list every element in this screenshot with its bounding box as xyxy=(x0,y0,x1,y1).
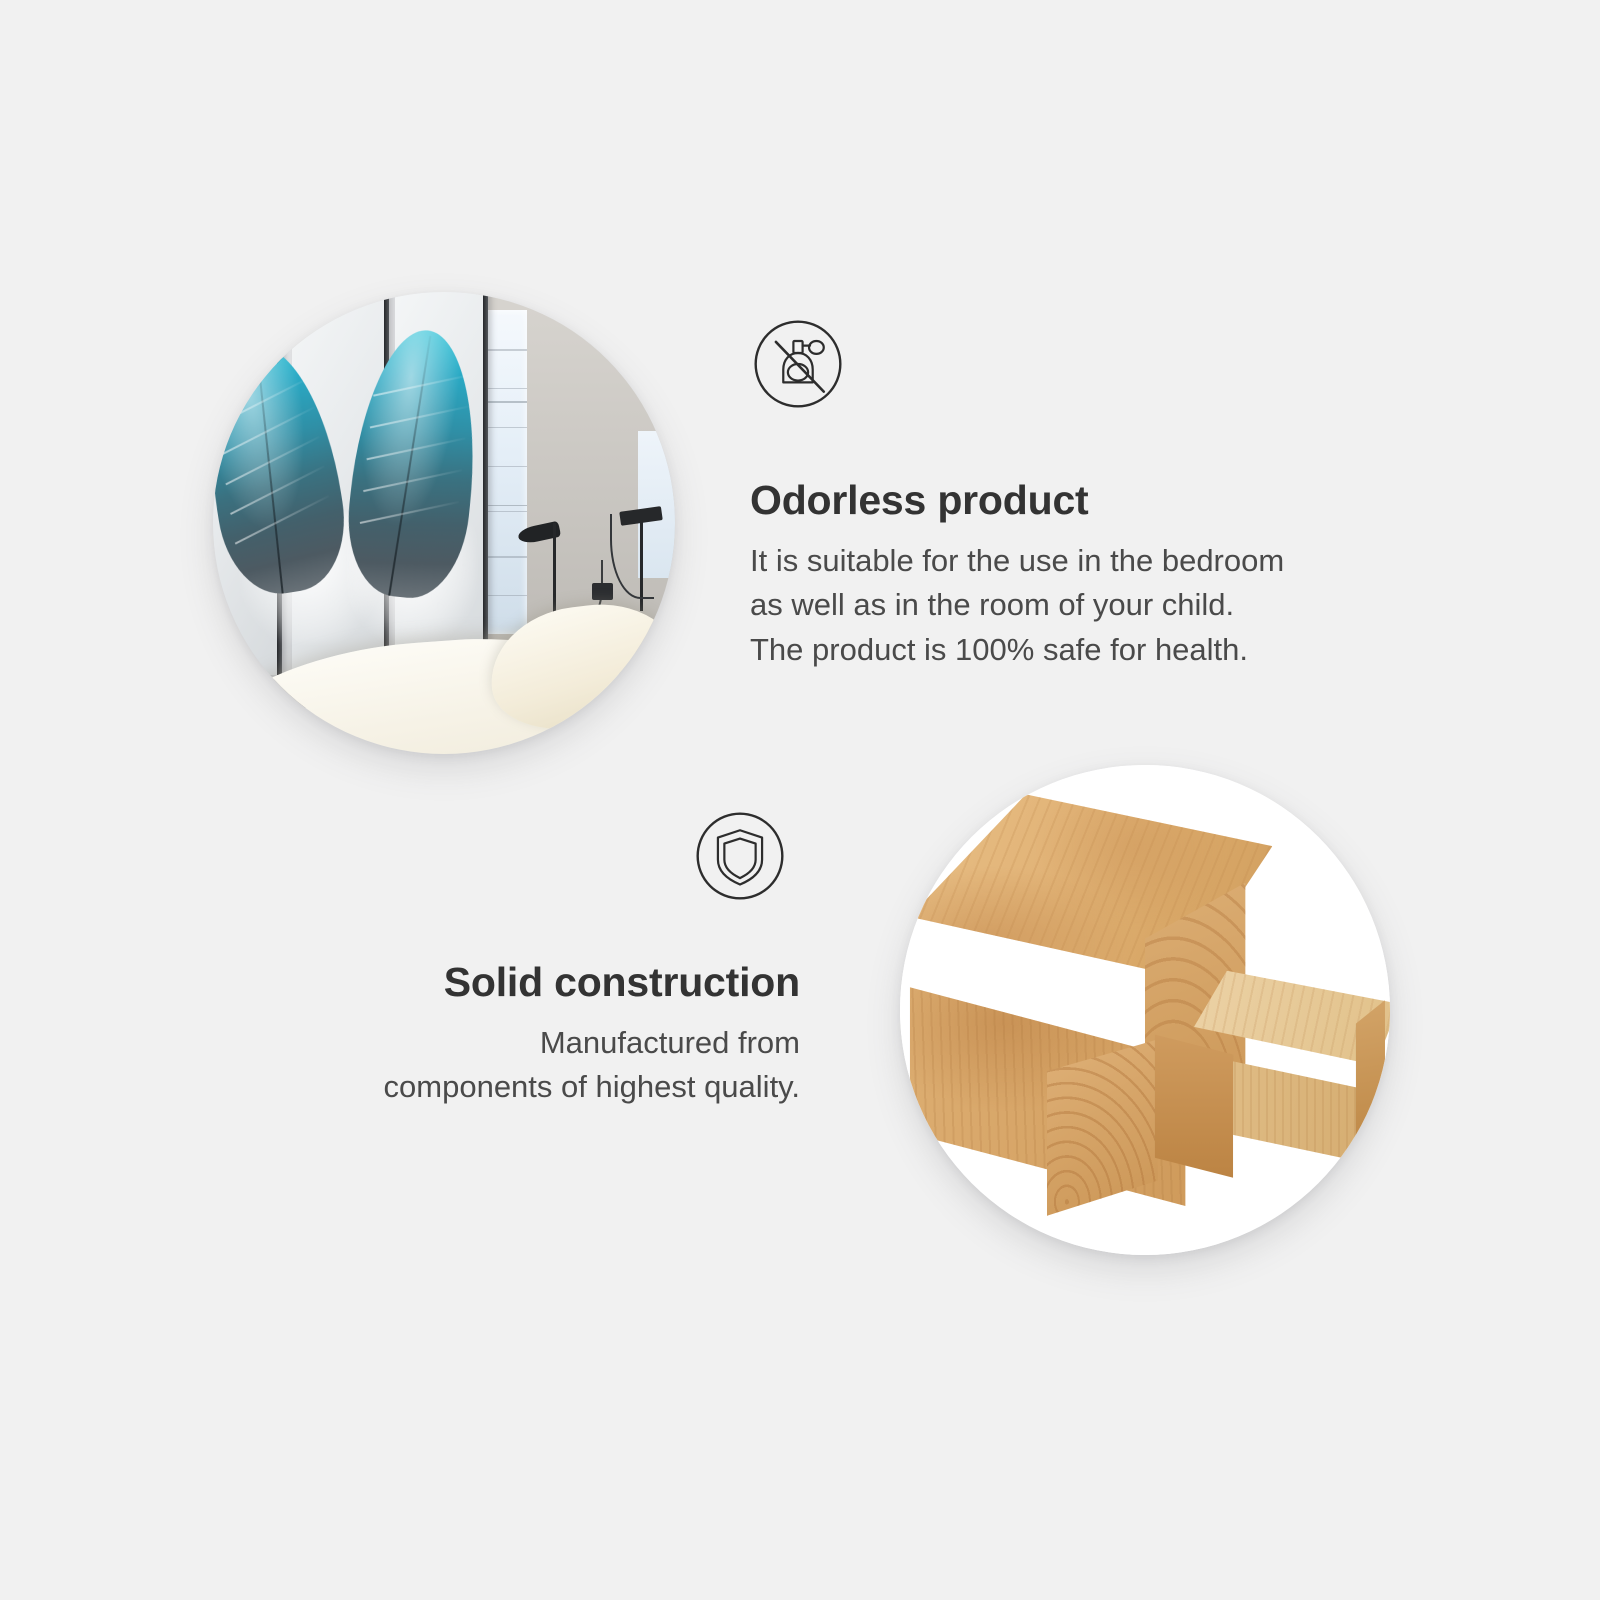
window-mullions xyxy=(483,310,527,633)
wooden-beams-photo xyxy=(900,765,1390,1255)
feather-shaft xyxy=(389,336,432,596)
solid-construction-description: Manufactured from components of highest … xyxy=(220,1021,800,1110)
solid-construction-feature-text: Solid construction Manufactured from com… xyxy=(220,960,800,1110)
loft-window xyxy=(483,310,527,633)
odorless-description-line: It is suitable for the use in the bedroo… xyxy=(750,539,1430,583)
bedroom-scene xyxy=(213,292,675,754)
product-feature-page: Odorless product It is suitable for the … xyxy=(0,0,1600,1600)
odorless-description-line: as well as in the room of your child. xyxy=(750,583,1430,627)
solid-construction-description-line: components of highest quality. xyxy=(220,1065,800,1109)
solid-construction-title: Solid construction xyxy=(220,960,800,1005)
odorless-description-line: The product is 100% safe for health. xyxy=(750,628,1430,672)
canvas-edge xyxy=(483,292,488,671)
odorless-title: Odorless product xyxy=(750,478,1430,523)
odorless-description: It is suitable for the use in the bedroo… xyxy=(750,539,1430,672)
no-perfume-icon xyxy=(752,318,844,410)
wood-blocks-scene xyxy=(900,765,1390,1255)
odorless-feature-text: Odorless product It is suitable for the … xyxy=(750,478,1430,672)
wall-outlet xyxy=(592,583,613,600)
shield-icon xyxy=(694,810,786,902)
feather-shaft xyxy=(257,350,285,593)
feather-artwork-bedroom-photo xyxy=(213,292,675,754)
solid-construction-description-line: Manufactured from xyxy=(220,1021,800,1065)
